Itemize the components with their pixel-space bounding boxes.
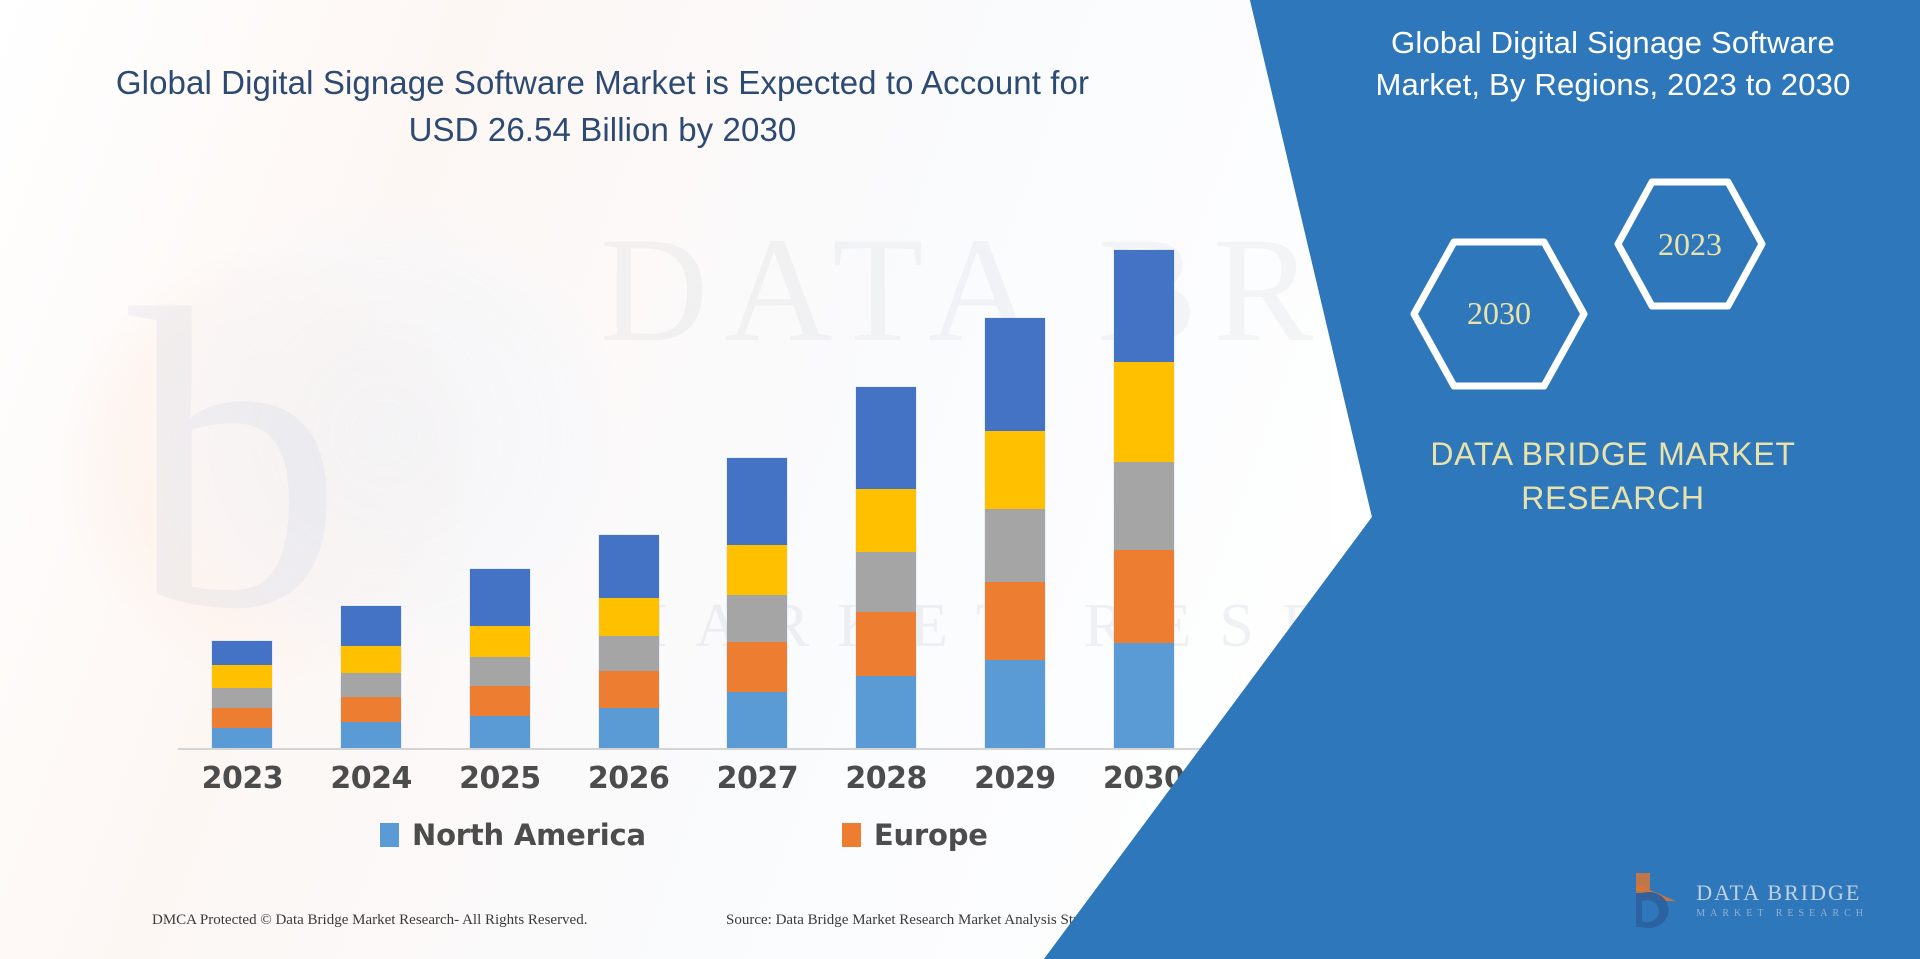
bar-segment xyxy=(470,657,530,686)
bar-segment xyxy=(470,686,530,716)
bar-segment xyxy=(599,671,659,708)
bar-segment xyxy=(599,636,659,671)
bar-segment xyxy=(985,582,1045,660)
bar-segment xyxy=(470,569,530,626)
legend-swatch-icon xyxy=(380,823,399,847)
bar-segment xyxy=(1114,462,1174,549)
bar-segment xyxy=(727,642,787,692)
bar-segment xyxy=(1114,643,1174,748)
x-axis-label-2024: 2024 xyxy=(307,761,435,796)
bar-segment xyxy=(341,606,401,646)
bar-segment xyxy=(727,595,787,642)
bar-segment xyxy=(985,431,1045,508)
hexagon-group: 2023 2030 xyxy=(1410,178,1760,393)
bar-segment xyxy=(1114,550,1174,643)
logo-text-main: DATA BRIDGE xyxy=(1696,882,1868,904)
stacked-bar-chart xyxy=(178,190,1208,750)
bar-segment xyxy=(856,489,916,552)
bar-2030 xyxy=(1114,250,1174,748)
bar-segment xyxy=(341,673,401,697)
bar-segment xyxy=(212,641,272,665)
hexagon-2030: 2030 xyxy=(1410,238,1588,390)
bar-column xyxy=(565,192,693,748)
bar-segment xyxy=(212,665,272,688)
bar-segment xyxy=(1114,362,1174,462)
bar-2023 xyxy=(212,641,272,748)
bar-segment xyxy=(856,676,916,748)
x-axis-label-2028: 2028 xyxy=(822,761,950,796)
bar-segment xyxy=(727,545,787,595)
bar-segment xyxy=(341,697,401,722)
chart-legend: North AmericaEurope xyxy=(178,812,1208,858)
x-axis-label-2023: 2023 xyxy=(178,761,306,796)
bar-2026 xyxy=(599,535,659,748)
bar-column xyxy=(178,192,306,748)
company-logo: DATA BRIDGE MARKET RESEARCH xyxy=(1628,871,1868,929)
bar-segment xyxy=(856,387,916,488)
legend-label: Europe xyxy=(874,818,988,852)
bar-column xyxy=(951,192,1079,748)
x-axis-label-2025: 2025 xyxy=(436,761,564,796)
infographic-root: b DATA BRIDGE MARKET RESEARCH Global Dig… xyxy=(0,0,1920,959)
hexagon-2023: 2023 xyxy=(1614,178,1766,310)
x-axis-labels: 20232024202520262027202820292030 xyxy=(178,755,1208,801)
hexagon-2030-label: 2030 xyxy=(1410,295,1588,332)
x-axis-label-2026: 2026 xyxy=(565,761,693,796)
bar-segment xyxy=(727,458,787,544)
bar-segment xyxy=(856,552,916,612)
bar-column xyxy=(693,192,821,748)
bar-segment xyxy=(856,612,916,676)
bar-2028 xyxy=(856,387,916,748)
bar-column xyxy=(307,192,435,748)
bar-2025 xyxy=(470,569,530,748)
logo-text-sub: MARKET RESEARCH xyxy=(1696,909,1868,919)
logo-text: DATA BRIDGE MARKET RESEARCH xyxy=(1696,882,1868,919)
bar-segment xyxy=(599,708,659,748)
bar-segment xyxy=(985,318,1045,431)
bar-segment xyxy=(341,722,401,748)
bar-segment xyxy=(985,509,1045,582)
brand-name: DATA BRIDGE MARKET RESEARCH xyxy=(1353,432,1873,520)
bar-segment xyxy=(212,688,272,708)
bar-column xyxy=(1080,192,1208,748)
page-title: Global Digital Signage Software Market i… xyxy=(95,60,1110,154)
bar-column xyxy=(436,192,564,748)
bar-segment xyxy=(599,535,659,598)
x-axis-label-2027: 2027 xyxy=(693,761,821,796)
legend-item-europe[interactable]: Europe xyxy=(842,818,988,852)
bar-segment xyxy=(599,598,659,636)
chart-panel: b DATA BRIDGE MARKET RESEARCH Global Dig… xyxy=(0,0,1330,959)
x-axis-line xyxy=(178,748,1208,750)
chart-bars xyxy=(178,192,1208,748)
bar-segment xyxy=(212,728,272,748)
x-axis-label-2029: 2029 xyxy=(951,761,1079,796)
bar-segment xyxy=(470,626,530,657)
bar-segment xyxy=(727,692,787,748)
legend-item-north-america[interactable]: North America xyxy=(380,818,646,852)
bar-column xyxy=(822,192,950,748)
bar-segment xyxy=(341,646,401,673)
bar-segment xyxy=(985,660,1045,748)
bar-segment xyxy=(212,708,272,728)
legend-label: North America xyxy=(412,818,646,852)
bar-2024 xyxy=(341,606,401,748)
bar-2029 xyxy=(985,318,1045,748)
hexagon-2023-label: 2023 xyxy=(1614,226,1766,263)
dmca-notice: DMCA Protected © Data Bridge Market Rese… xyxy=(152,912,587,929)
legend-swatch-icon xyxy=(842,823,861,847)
bar-segment xyxy=(1114,250,1174,362)
brand-panel-title: Global Digital Signage Software Market, … xyxy=(1353,22,1873,106)
bar-segment xyxy=(470,716,530,748)
bar-2027 xyxy=(727,458,787,748)
logo-mark-icon xyxy=(1628,871,1682,929)
